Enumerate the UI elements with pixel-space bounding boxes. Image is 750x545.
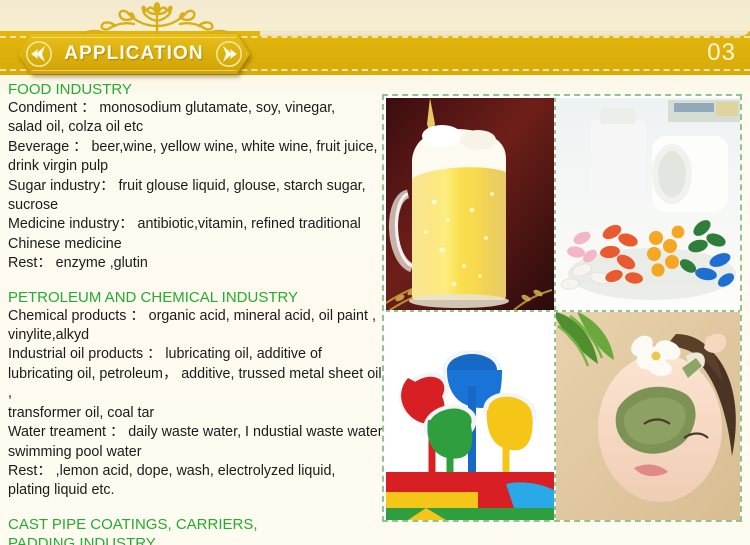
- collage-divider-vertical: [554, 98, 556, 520]
- section-line: drink virgin pulp: [8, 157, 386, 176]
- header-band: APPLICATION 03: [0, 0, 750, 82]
- beer-mug-photo: [386, 98, 554, 310]
- section-line: Rest： enzyme ,glutin: [8, 254, 386, 273]
- section-line: Chemical products ： organic acid, minera…: [8, 307, 386, 326]
- section-line: plating liquid etc.: [8, 481, 386, 500]
- page-number: 03: [707, 38, 736, 68]
- section-heading: CAST PIPE COATINGS, CARRIERS, PADDING IN…: [8, 515, 386, 545]
- section-line: transformer oil, coal tar: [8, 404, 386, 423]
- facial-mask-photo: [556, 312, 740, 520]
- section-line: lubricating oil, petroleum， additive, tr…: [8, 365, 386, 404]
- section-line: swimming pool water: [8, 443, 386, 462]
- section-line: Rest： ,lemon acid, dope, wash, electroly…: [8, 462, 386, 481]
- section-line: Industrial oil products ： lubricating oi…: [8, 345, 386, 364]
- section-heading: PETROLEUM AND CHEMICAL INDUSTRY: [8, 288, 386, 307]
- section-line: Beverage ： beer,wine, yellow wine, white…: [8, 138, 386, 157]
- section-line: Chinese medicine: [8, 235, 386, 254]
- section-line: Condiment ： monosodium glutamate, soy, v…: [8, 99, 386, 118]
- section-line: salad oil, colza oil etc: [8, 118, 386, 137]
- application-page: APPLICATION 03 FOOD INDUSTRY Condiment ：…: [0, 0, 750, 545]
- section-title-plaque: APPLICATION: [18, 34, 250, 74]
- section-line: Sugar industry： fruit glouse liquid, glo…: [8, 177, 386, 196]
- section-cast-pipe-coatings: CAST PIPE COATINGS, CARRIERS, PADDING IN…: [8, 515, 386, 545]
- pills-bottles-photo: [556, 98, 740, 310]
- collage-divider-horizontal: [386, 310, 740, 312]
- section-line: sucrose: [8, 196, 386, 215]
- filigree-flourish-icon: [62, 2, 252, 36]
- content-text-column: FOOD INDUSTRY Condiment ： monosodium glu…: [8, 80, 386, 542]
- section-heading: FOOD INDUSTRY: [8, 80, 386, 99]
- section-line: Water treament ： daily waste water, I nd…: [8, 423, 386, 442]
- fleur-ornament-right-icon: [215, 40, 243, 68]
- ribbon-swoosh: [260, 27, 750, 36]
- image-collage: [382, 94, 742, 522]
- paint-cans-photo: [386, 312, 554, 520]
- section-petroleum-chemical-industry: PETROLEUM AND CHEMICAL INDUSTRY Chemical…: [8, 288, 386, 501]
- section-spacer: [8, 503, 386, 515]
- section-food-industry: FOOD INDUSTRY Condiment ： monosodium glu…: [8, 80, 386, 274]
- section-spacer: [8, 276, 386, 288]
- section-line: vinylite,alkyd: [8, 326, 386, 345]
- section-line: Medicine industry： antibiotic,vitamin, r…: [8, 215, 386, 234]
